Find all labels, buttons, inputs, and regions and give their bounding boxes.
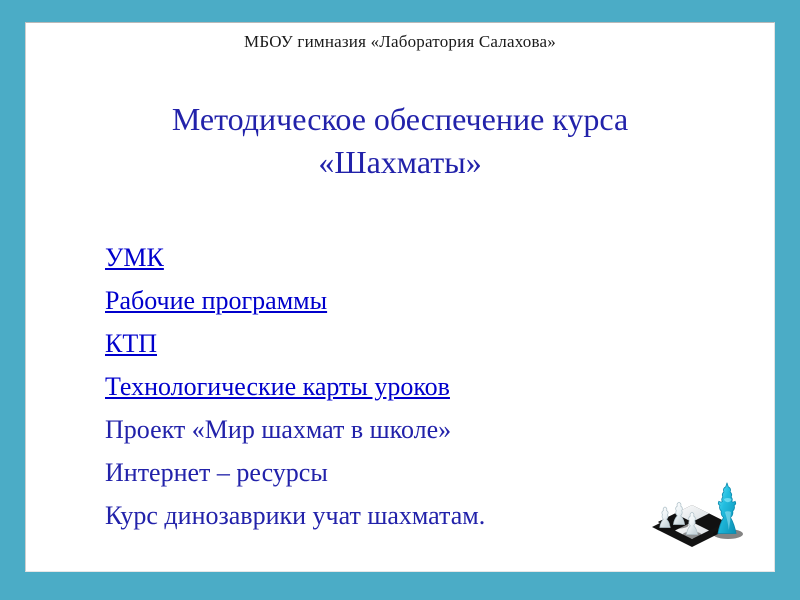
chess-pieces-illustration [618,465,766,565]
list-item-label: Курс динозаврики учат шахматам. [105,501,485,530]
list-item-label: Проект «Мир шахмат в школе» [105,415,451,444]
list-item-rabochie-programmy[interactable]: Рабочие программы [105,279,734,322]
list-item-label[interactable]: Технологические карты уроков [105,372,450,401]
list-item-ktp[interactable]: КТП [105,322,734,365]
title-line-1: Методическое обеспечение курса [26,98,774,141]
slide-content-area: МБОУ гимназия «Лаборатория Салахова» Мет… [25,22,775,572]
list-item-label[interactable]: КТП [105,329,157,358]
slide-header: МБОУ гимназия «Лаборатория Салахова» [26,32,774,52]
list-item-label[interactable]: УМК [105,243,164,272]
list-item-label[interactable]: Рабочие программы [105,286,327,315]
slide: МБОУ гимназия «Лаборатория Салахова» Мет… [0,0,800,600]
cyan-queen [713,483,743,539]
list-item-tehnologicheskie-karty[interactable]: Технологические карты уроков [105,365,734,408]
title-line-2: «Шахматы» [26,141,774,184]
list-item-umk[interactable]: УМК [105,236,734,279]
slide-title: Методическое обеспечение курса «Шахматы» [26,98,774,184]
list-item-label: Интернет – ресурсы [105,458,328,487]
list-item-proekt-mir-shahmat: Проект «Мир шахмат в школе» [105,408,734,451]
